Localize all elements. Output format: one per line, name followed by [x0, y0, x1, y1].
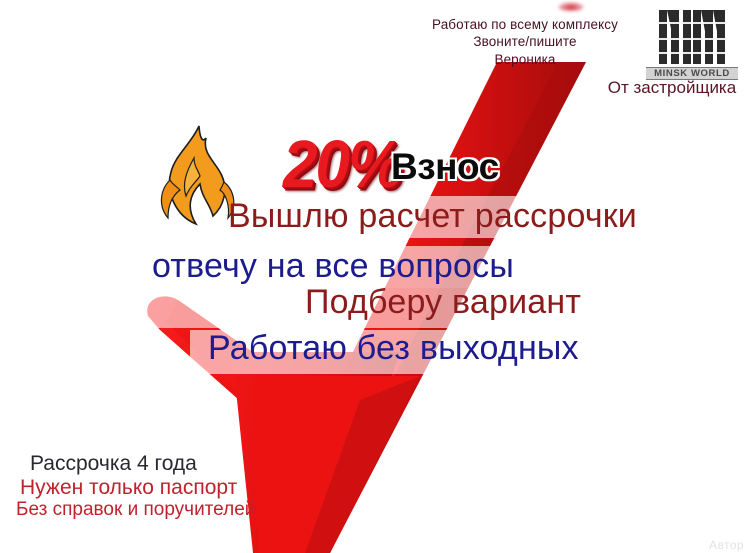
- contact-line-1: Работаю по всему комплексу: [400, 16, 650, 33]
- terms-line-2: Нужен только паспорт: [16, 476, 286, 500]
- corner-watermark: Автор: [709, 538, 744, 552]
- slogan-line-1: Вышлю расчет рассрочки: [228, 199, 637, 233]
- slogan-line-4: Работаю без выходных: [208, 331, 579, 365]
- mw-monogram-icon: [655, 8, 729, 66]
- slogan-line-3: Подберу вариант: [305, 285, 581, 319]
- contact-line-3: Вероника: [400, 51, 650, 68]
- terms-block: Рассрочка 4 года Нужен только паспорт Бе…: [16, 452, 286, 520]
- percent-headline: 20%: [283, 132, 401, 199]
- promo-poster: Работаю по всему комплексу Звоните/пишит…: [0, 0, 750, 553]
- terms-line-3: Без справок и поручителей: [16, 499, 286, 520]
- slogan-line-2: отвечу на все вопросы: [152, 249, 514, 283]
- top-red-sliver: [558, 2, 584, 11]
- payment-word: Взнос: [391, 148, 499, 185]
- checkmark-short-core: [166, 300, 336, 470]
- checkmark-short-stroke: [147, 296, 336, 470]
- checkmark-junction-shadow: [305, 376, 420, 553]
- from-developer-label: От застройщика: [596, 78, 748, 98]
- contact-line-2: Звоните/пишите: [400, 33, 650, 50]
- terms-line-1: Рассрочка 4 года: [16, 452, 286, 476]
- header-contact-block: Работаю по всему комплексу Звоните/пишит…: [400, 16, 650, 68]
- minsk-world-logo: MINSK WORLD: [640, 8, 744, 80]
